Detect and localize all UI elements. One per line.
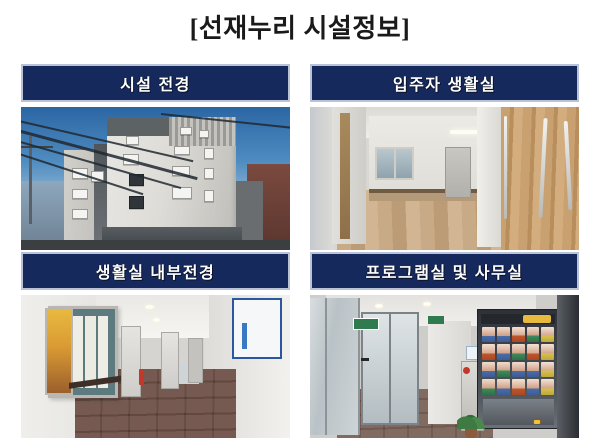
resident-living-room-photo xyxy=(310,107,579,250)
ceiling-light xyxy=(375,304,383,308)
interior-window xyxy=(375,147,414,180)
staff-photo xyxy=(482,362,495,378)
program-room-office-photo xyxy=(310,295,579,438)
office-name-sign xyxy=(353,318,379,330)
window xyxy=(199,130,209,138)
door-handle xyxy=(504,116,507,219)
staff-photo xyxy=(482,379,495,395)
facility-exterior-photo xyxy=(21,107,290,250)
staff-photo xyxy=(482,327,495,343)
board-header xyxy=(481,314,555,325)
facility-label-bar-4: 프로그램실 및 사무실 xyxy=(310,252,579,290)
right-dark-edge xyxy=(557,295,579,438)
staff-photo xyxy=(497,327,510,343)
fire-alarm-button xyxy=(463,367,470,374)
facility-label-bar-1: 시설 전경 xyxy=(21,64,290,102)
street-surface xyxy=(21,240,290,250)
facility-label-text-1: 시설 전경 xyxy=(120,71,191,95)
window xyxy=(72,209,87,220)
window xyxy=(174,146,189,155)
window xyxy=(126,136,139,145)
staff-photo xyxy=(497,344,510,360)
corridor-door xyxy=(121,326,142,397)
page-title: [선재누리 시설정보] xyxy=(0,8,600,45)
facility-photo-grid: 시설 전경 xyxy=(21,64,579,438)
facility-card-1: 시설 전경 xyxy=(21,64,290,250)
window xyxy=(204,168,214,179)
board-footer xyxy=(483,399,554,425)
staff-photo xyxy=(541,344,554,360)
window xyxy=(204,190,214,202)
staff-photo xyxy=(527,344,540,360)
facility-card-3: 생활실 내부전경 xyxy=(21,252,290,438)
window xyxy=(72,189,87,200)
corridor-door xyxy=(161,332,179,388)
corridor-door xyxy=(188,338,203,383)
staff-photo xyxy=(482,344,495,360)
staff-photo-grid xyxy=(482,327,555,395)
facility-label-text-2: 입주자 생활실 xyxy=(393,71,496,95)
staff-photo xyxy=(497,379,510,395)
utility-pole xyxy=(29,136,32,225)
right-pillar xyxy=(477,107,504,247)
staff-photo xyxy=(512,379,525,395)
window xyxy=(180,127,193,135)
facility-card-2: 입주자 생활실 xyxy=(310,64,579,250)
door-handle xyxy=(361,358,369,361)
staff-photo xyxy=(497,362,510,378)
staff-photo xyxy=(512,344,525,360)
window xyxy=(172,187,193,199)
staff-photo xyxy=(541,379,554,395)
fire-extinguisher xyxy=(139,369,144,385)
left-wood-door-edge xyxy=(340,113,351,239)
ceiling-light xyxy=(145,305,154,309)
living-room-interior-photo xyxy=(21,295,290,438)
staff-photo xyxy=(527,379,540,395)
facility-label-bar-2: 입주자 생활실 xyxy=(310,64,579,102)
emergency-exit-sign xyxy=(428,316,444,323)
facility-card-4: 프로그램실 및 사무실 xyxy=(310,252,579,438)
ceiling-light xyxy=(153,318,160,322)
staff-photo xyxy=(512,327,525,343)
facility-label-bar-3: 생활실 내부전경 xyxy=(21,252,290,290)
open-doorway xyxy=(445,147,471,198)
facility-label-text-3: 생활실 내부전경 xyxy=(96,259,216,283)
window xyxy=(129,196,144,209)
staff-photo xyxy=(527,362,540,378)
staff-photo xyxy=(512,362,525,378)
staff-photo xyxy=(541,362,554,378)
wall-mounted-sign xyxy=(232,298,282,359)
facility-label-text-4: 프로그램실 및 사무실 xyxy=(366,259,524,283)
potted-plant xyxy=(455,407,487,438)
window xyxy=(204,148,214,159)
facility-info-page: [선재누리 시설정보] 시설 전경 xyxy=(0,0,600,446)
roof-dark-panel xyxy=(107,118,172,135)
staff-photo xyxy=(541,327,554,343)
staff-photo xyxy=(527,327,540,343)
sunflower-graphic xyxy=(529,420,545,424)
staff-photo-board xyxy=(477,309,560,428)
